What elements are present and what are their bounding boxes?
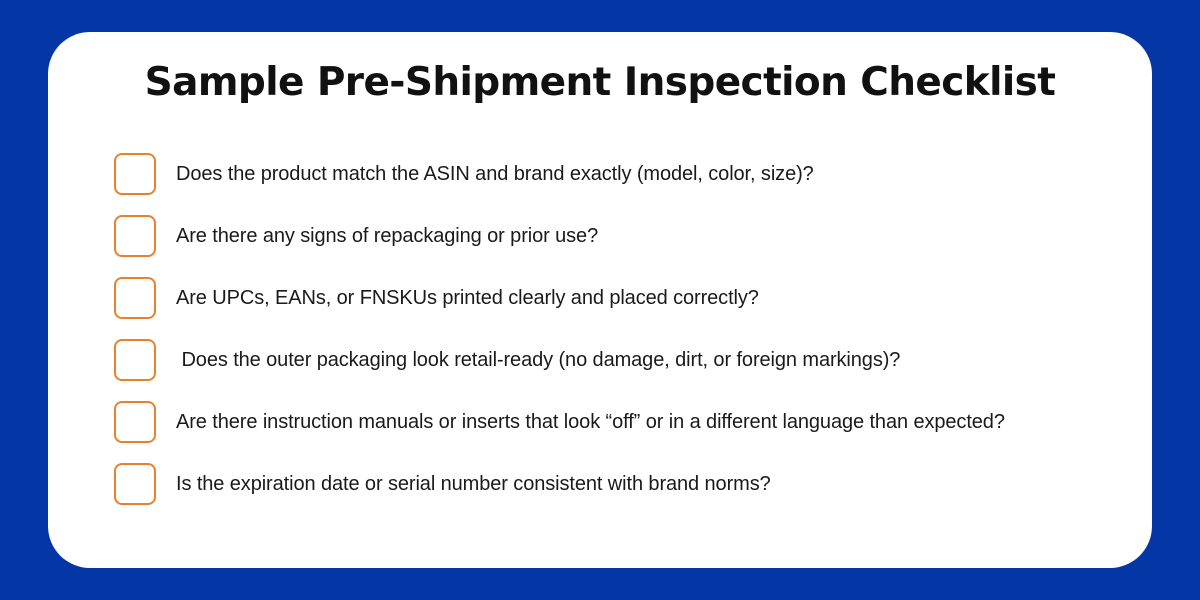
page-title: Sample Pre-Shipment Inspection Checklist [48,60,1152,105]
checkbox-icon[interactable] [114,277,156,319]
checkbox-icon[interactable] [114,339,156,381]
checkbox-icon[interactable] [114,215,156,257]
checklist-row[interactable]: Does the product match the ASIN and bran… [114,143,1132,205]
checklist-item-label: Are there any signs of repackaging or pr… [176,224,598,248]
checklist: Does the product match the ASIN and bran… [114,143,1132,515]
checklist-row[interactable]: Are UPCs, EANs, or FNSKUs printed clearl… [114,267,1132,329]
checkbox-icon[interactable] [114,401,156,443]
checklist-item-label: Are UPCs, EANs, or FNSKUs printed clearl… [176,286,759,310]
checklist-row[interactable]: Is the expiration date or serial number … [114,453,1132,515]
checklist-row[interactable]: Are there instruction manuals or inserts… [114,391,1132,453]
checklist-card: Sample Pre-Shipment Inspection Checklist… [48,32,1152,568]
checkbox-icon[interactable] [114,153,156,195]
checklist-row[interactable]: Are there any signs of repackaging or pr… [114,205,1132,267]
checklist-item-label: Does the product match the ASIN and bran… [176,162,814,186]
checklist-item-label: Does the outer packaging look retail-rea… [176,348,900,372]
checklist-item-label: Are there instruction manuals or inserts… [176,410,1005,434]
checklist-row[interactable]: Does the outer packaging look retail-rea… [114,329,1132,391]
checklist-item-label: Is the expiration date or serial number … [176,472,771,496]
checkbox-icon[interactable] [114,463,156,505]
